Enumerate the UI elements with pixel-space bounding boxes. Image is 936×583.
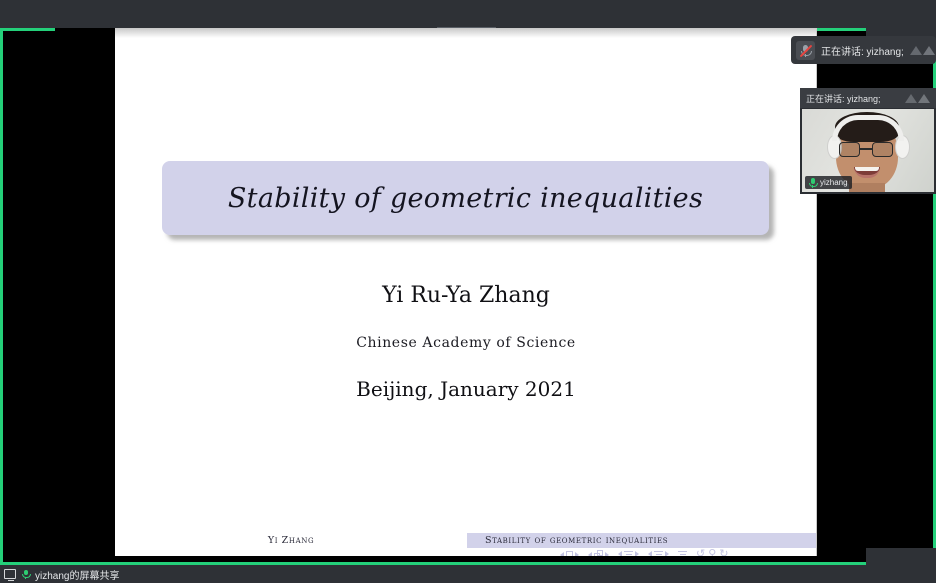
video-banner-label: 正在讲话: yizhang; <box>806 92 881 105</box>
search-nav-icon[interactable]: ⚲ <box>708 549 716 556</box>
audio-wave-icon <box>910 46 935 55</box>
desktop-top-strip <box>0 0 936 28</box>
slide-title-box: Stability of geometric inequalities <box>162 161 769 235</box>
presentation-slide[interactable]: Stability of geometric inequalities Yi R… <box>115 28 817 556</box>
video-speaker-banner: 正在讲话: yizhang; <box>800 88 936 108</box>
share-border-mask-bottom-right <box>866 548 936 565</box>
glasses-right-lens <box>872 142 893 157</box>
slide-top-shadow <box>115 28 816 38</box>
back-search-forward-nav[interactable]: ↺ ⚲ ↻ <box>696 549 729 556</box>
participant-name-badge: yizhang <box>805 176 852 189</box>
share-border-gap-top <box>55 28 117 32</box>
participant-teeth <box>855 167 879 171</box>
glasses-bridge <box>860 148 872 150</box>
slide-title: Stability of geometric inequalities <box>228 183 703 214</box>
subsection-nav-icon[interactable] <box>618 551 639 556</box>
beamer-navigation-bar[interactable]: ↺ ⚲ ↻ <box>560 549 729 556</box>
footline-author: Yi Zhang <box>115 533 467 548</box>
forward-nav-icon[interactable]: ↻ <box>719 549 728 556</box>
document-nav-icon[interactable] <box>678 551 687 556</box>
participant-video-tile[interactable]: yizhang <box>802 109 934 192</box>
video-panel[interactable]: 正在讲话: yizhang; yizhang <box>800 88 936 194</box>
share-border-gap-bottom <box>55 548 117 553</box>
taskbar-share-label: yizhang的屏幕共享 <box>35 567 119 582</box>
glasses-left-lens <box>839 142 860 157</box>
slide-institute: Chinese Academy of Science <box>115 335 817 351</box>
section-nav-icon[interactable] <box>648 551 669 556</box>
audio-wave-icon <box>905 94 930 103</box>
participant-name-label: yizhang <box>820 179 848 187</box>
microphone-active-icon <box>808 178 817 188</box>
speaker-banner[interactable]: 正在讲话: yizhang; <box>791 36 936 64</box>
screen-share-icon[interactable] <box>4 569 16 579</box>
slide-nav-icon[interactable] <box>560 551 579 556</box>
speaker-banner-label: 正在讲话: yizhang; <box>821 43 904 58</box>
footline-title: Stability of geometric inequalities <box>467 533 817 548</box>
microphone-icon[interactable] <box>21 569 30 579</box>
back-nav-icon[interactable]: ↺ <box>696 549 705 556</box>
taskbar[interactable]: yizhang的屏幕共享 <box>0 565 936 583</box>
participant-neck <box>849 183 885 192</box>
slide-author: Yi Ru-Ya Zhang <box>115 283 817 308</box>
microphone-muted-icon[interactable] <box>796 41 815 60</box>
frame-nav-icon[interactable] <box>588 550 609 556</box>
slide-date: Beijing, January 2021 <box>115 377 817 401</box>
slide-footline: Yi Zhang Stability of geometric inequali… <box>115 533 817 548</box>
desktop-screen: 腾讯会议 Stability of geometric inequalities… <box>0 0 936 583</box>
